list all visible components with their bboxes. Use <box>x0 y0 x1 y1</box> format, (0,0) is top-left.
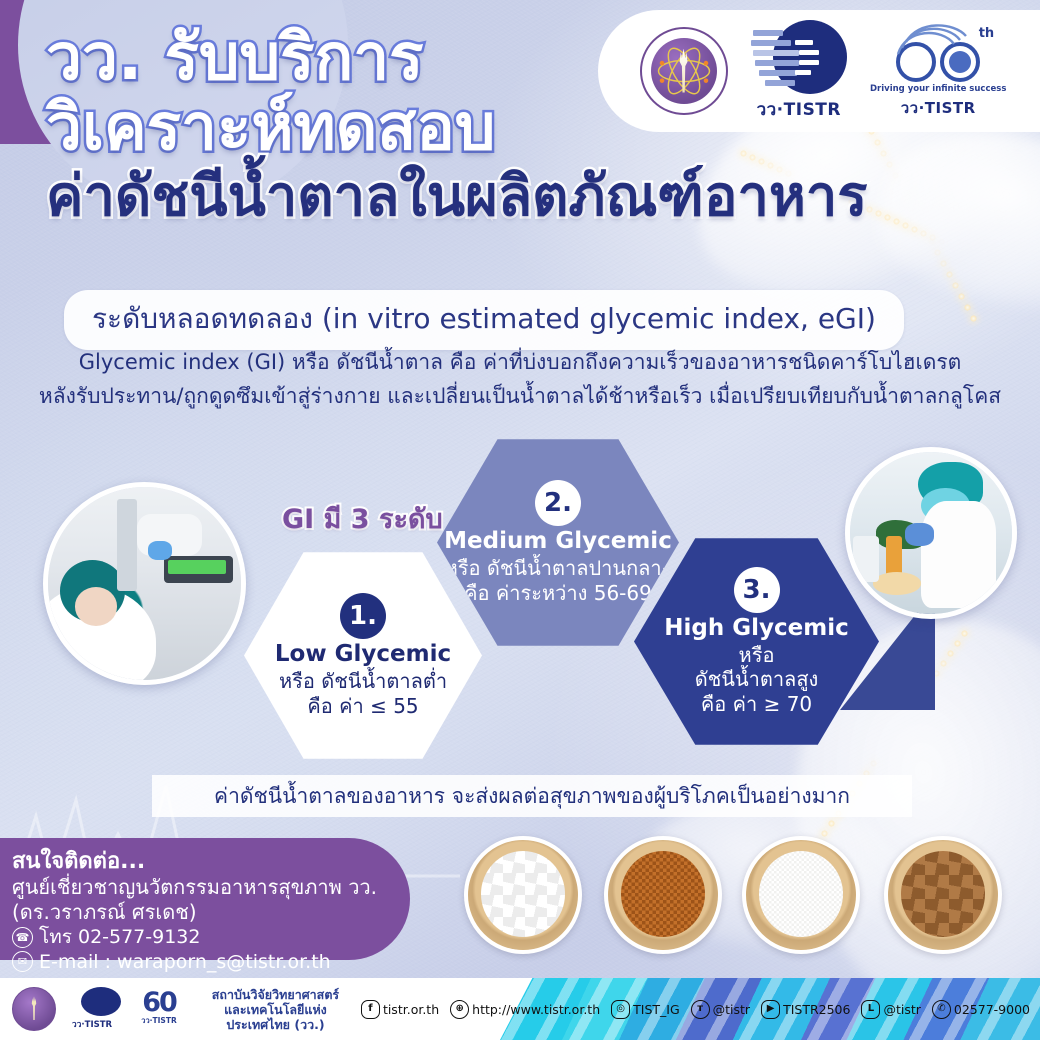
hex-number-1: 1. <box>340 593 386 639</box>
footer-link-phone[interactable]: ✆02577-9000 <box>932 1000 1030 1019</box>
hex-subtext-3: หรือ ดัชนีน้ำตาลสูง คือ ค่า ≥ 70 <box>695 643 819 716</box>
hex-title-2: Medium Glycemic <box>444 529 672 554</box>
ministry-seal-icon <box>12 987 56 1031</box>
infographic-poster: วว·TISTR th Driving you <box>0 0 1040 1040</box>
hex-title-1: Low Glycemic <box>275 642 451 667</box>
footer-link-line[interactable]: L@tistr <box>861 1000 920 1019</box>
phone-icon: ✆ <box>932 1000 951 1019</box>
hex-subtext-1: หรือ ดัชนีน้ำตาลต่ำ คือ ค่า ≤ 55 <box>279 669 447 718</box>
description-block: Glycemic index (GI) หรือ ดัชนีน้ำตาล คือ… <box>0 345 1040 413</box>
globe-icon: ⊕ <box>450 1000 469 1019</box>
institute-line-2: และเทคโนโลยีแห่งประเทศไทย (วว.) <box>203 1002 348 1032</box>
hex-sub-line: หรือ ดัชนีน้ำตาลปานกลาง <box>445 556 672 580</box>
footer-link-instagram[interactable]: ◎TIST_IG <box>611 1000 680 1019</box>
facebook-icon: f <box>361 1000 380 1019</box>
footer-link-label: @tistr <box>713 1002 750 1017</box>
footer-institute-name: สถาบันวิจัยวิทยาศาสตร์ และเทคโนโลยีแห่งป… <box>203 987 348 1032</box>
footer-link-label: 02577-9000 <box>954 1002 1030 1017</box>
tistr-wordmark-anniversary: วว·TISTR <box>141 1015 176 1027</box>
hex-sub-line: คือ ค่า ≥ 70 <box>695 692 819 716</box>
hex-sub-line: หรือ ดัชนีน้ำตาลต่ำ <box>279 669 447 693</box>
white-sugar-cubes-bowl <box>464 836 582 954</box>
footer-social-links[interactable]: ftistr.or.th⊕http://www.tistr.or.th◎TIST… <box>361 1000 1030 1019</box>
title-line-1: วว. รับบริการ <box>46 26 946 92</box>
contact-phone-row: ☎ โทร 02-577-9132 <box>12 925 410 950</box>
tistr-wordmark: วว·TISTR <box>72 1017 112 1031</box>
white-granulated-sugar-bowl <box>742 836 860 954</box>
gi-levels-label: GI มี 3 ระดับ <box>282 497 443 540</box>
tistr-globe-logo: วว·TISTR <box>63 987 121 1031</box>
hex-sub-line: ดัชนีน้ำตาลสูง <box>695 667 819 691</box>
anniversary-60-logo: 60 วว·TISTR <box>128 987 190 1031</box>
impact-statement: ค่าดัชนีน้ำตาลของอาหาร จะส่งผลต่อสุขภาพข… <box>152 775 912 817</box>
title-line-3: ค่าดัชนีน้ำตาลในผลิตภัณฑ์อาหาร <box>46 168 946 226</box>
lab-photo-right <box>845 447 1017 619</box>
contact-person: (ดร.วราภรณ์ ศรเดช) <box>12 900 410 925</box>
envelope-icon: ✉ <box>12 951 33 972</box>
footer-link-label: TISTR2506 <box>783 1002 850 1017</box>
contact-email-row: ✉ E-mail : waraporn_s@tistr.or.th <box>12 950 410 975</box>
institute-line-1: สถาบันวิจัยวิทยาศาสตร์ <box>203 987 348 1002</box>
contact-heading: สนใจติดต่อ... <box>12 849 410 875</box>
hex-title-3: High Glycemic <box>664 616 848 641</box>
footer-link-label: @tistr <box>883 1002 920 1017</box>
footer-link-facebook[interactable]: ftistr.or.th <box>361 1000 439 1019</box>
footer-link-twitter[interactable]: ᴛ@tistr <box>691 1000 750 1019</box>
footer-link-label: tistr.or.th <box>383 1002 439 1017</box>
twitter-icon: ᴛ <box>691 1000 710 1019</box>
hex-sub-line: หรือ <box>695 643 819 667</box>
hex-sub-line: คือ ค่าระหว่าง 56-69 <box>445 581 672 605</box>
subtitle-strip: ระดับหลอดทดลอง (in vitro estimated glyce… <box>64 290 904 350</box>
lab-photo-left <box>43 482 246 685</box>
footer-link-youtube[interactable]: ▶TISTR2506 <box>761 1000 850 1019</box>
footer-link-label: http://www.tistr.or.th <box>472 1002 600 1017</box>
line-icon: L <box>861 1000 880 1019</box>
phone-icon: ☎ <box>12 927 33 948</box>
title-line-2: วิเคราะห์ทดสอบ <box>46 96 946 162</box>
contact-panel: สนใจติดต่อ... ศูนย์เชี่ยวชาญนวัตกรรมอาหา… <box>0 838 410 960</box>
brown-granulated-sugar-bowl <box>604 836 722 954</box>
contact-organization: ศูนย์เชี่ยวชาญนวัตกรรมอาหารสุขภาพ วว. <box>12 875 410 900</box>
instagram-icon: ◎ <box>611 1000 630 1019</box>
anniversary-number: 60 <box>142 991 176 1015</box>
contact-email: E-mail : waraporn_s@tistr.or.th <box>39 950 331 975</box>
brown-sugar-cubes-bowl <box>884 836 1002 954</box>
footer-bar: วว·TISTR 60 วว·TISTR สถาบันวิจัยวิทยาศาส… <box>0 978 1040 1040</box>
footer-logos: วว·TISTR 60 วว·TISTR <box>12 987 190 1031</box>
description-line-2: หลังรับประทาน/ถูกดูดซึมเข้าสู่ร่างกาย แล… <box>0 379 1040 413</box>
hex-number-2: 2. <box>535 480 581 526</box>
hex-sub-line: คือ ค่า ≤ 55 <box>279 694 447 718</box>
hex-number-3: 3. <box>734 567 780 613</box>
footer-link-label: TIST_IG <box>633 1002 680 1017</box>
headline-block: วว. รับบริการ วิเคราะห์ทดสอบ ค่าดัชนีน้ำ… <box>46 26 946 225</box>
hex-subtext-2: หรือ ดัชนีน้ำตาลปานกลาง คือ ค่าระหว่าง 5… <box>445 556 672 605</box>
contact-phone: โทร 02-577-9132 <box>39 925 200 950</box>
anniversary-superscript: th <box>979 26 994 41</box>
youtube-icon: ▶ <box>761 1000 780 1019</box>
description-line-1: Glycemic index (GI) หรือ ดัชนีน้ำตาล คือ… <box>0 345 1040 379</box>
footer-link-globe[interactable]: ⊕http://www.tistr.or.th <box>450 1000 600 1019</box>
